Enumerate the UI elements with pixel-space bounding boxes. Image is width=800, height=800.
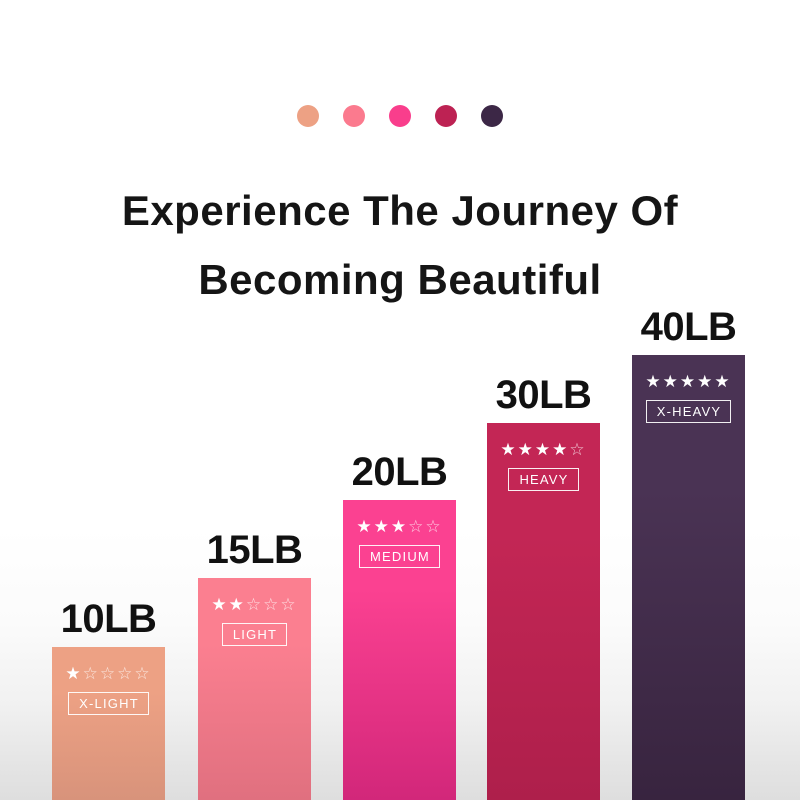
star-rating-icon: ★★★★★ <box>632 373 745 390</box>
star-filled-icon: ★ <box>663 372 680 391</box>
bar-content: ★★★★☆HEAVY <box>487 441 600 491</box>
resistance-level-badge: X-LIGHT <box>68 692 149 715</box>
resistance-level-badge: MEDIUM <box>359 545 440 568</box>
bar-weight-label: 10LB <box>61 599 157 647</box>
star-filled-icon: ★ <box>65 664 82 683</box>
star-filled-icon: ★ <box>356 517 373 536</box>
star-filled-icon: ★ <box>374 517 391 536</box>
star-rating-icon: ★☆☆☆☆ <box>52 665 165 682</box>
star-filled-icon: ★ <box>211 595 228 614</box>
resistance-level-badge: X-HEAVY <box>646 400 732 423</box>
bar-fill: ★★☆☆☆LIGHT <box>198 578 311 800</box>
resistance-level-bar-chart: 10LB★☆☆☆☆X-LIGHT15LB★★☆☆☆LIGHT20LB★★★☆☆M… <box>0 0 800 800</box>
star-empty-icon: ☆ <box>83 664 100 683</box>
star-filled-icon: ★ <box>229 595 246 614</box>
bar-weight-label: 30LB <box>496 375 592 423</box>
star-empty-icon: ☆ <box>569 440 586 459</box>
bar-content: ★★★★★X-HEAVY <box>632 373 745 423</box>
star-empty-icon: ☆ <box>117 664 134 683</box>
star-empty-icon: ☆ <box>425 517 442 536</box>
resistance-level-badge: LIGHT <box>222 623 287 646</box>
star-filled-icon: ★ <box>391 517 408 536</box>
bar-10lb[interactable]: 10LB★☆☆☆☆X-LIGHT <box>52 647 165 800</box>
bar-fill: ★★★☆☆MEDIUM <box>343 500 456 800</box>
star-filled-icon: ★ <box>518 440 535 459</box>
star-filled-icon: ★ <box>500 440 517 459</box>
bar-30lb[interactable]: 30LB★★★★☆HEAVY <box>487 423 600 800</box>
product-infographic-poster: Experience The Journey Of Becoming Beaut… <box>0 0 800 800</box>
star-empty-icon: ☆ <box>280 595 297 614</box>
bar-40lb[interactable]: 40LB★★★★★X-HEAVY <box>632 355 745 800</box>
resistance-level-badge: HEAVY <box>508 468 578 491</box>
star-empty-icon: ☆ <box>408 517 425 536</box>
star-empty-icon: ☆ <box>134 664 151 683</box>
bar-weight-label: 15LB <box>207 530 303 578</box>
bar-15lb[interactable]: 15LB★★☆☆☆LIGHT <box>198 578 311 800</box>
bar-weight-label: 20LB <box>352 452 448 500</box>
bar-fill: ★★★★★X-HEAVY <box>632 355 745 800</box>
star-filled-icon: ★ <box>714 372 731 391</box>
star-rating-icon: ★★★★☆ <box>487 441 600 458</box>
bar-fill: ★★★★☆HEAVY <box>487 423 600 800</box>
bar-content: ★☆☆☆☆X-LIGHT <box>52 665 165 715</box>
star-filled-icon: ★ <box>645 372 662 391</box>
star-rating-icon: ★★★☆☆ <box>343 518 456 535</box>
bar-20lb[interactable]: 20LB★★★☆☆MEDIUM <box>343 500 456 800</box>
bar-content: ★★☆☆☆LIGHT <box>198 596 311 646</box>
star-filled-icon: ★ <box>697 372 714 391</box>
star-filled-icon: ★ <box>552 440 569 459</box>
star-empty-icon: ☆ <box>246 595 263 614</box>
bar-fill: ★☆☆☆☆X-LIGHT <box>52 647 165 800</box>
star-empty-icon: ☆ <box>100 664 117 683</box>
bar-weight-label: 40LB <box>641 307 737 355</box>
bar-content: ★★★☆☆MEDIUM <box>343 518 456 568</box>
star-empty-icon: ☆ <box>263 595 280 614</box>
star-rating-icon: ★★☆☆☆ <box>198 596 311 613</box>
star-filled-icon: ★ <box>680 372 697 391</box>
star-filled-icon: ★ <box>535 440 552 459</box>
